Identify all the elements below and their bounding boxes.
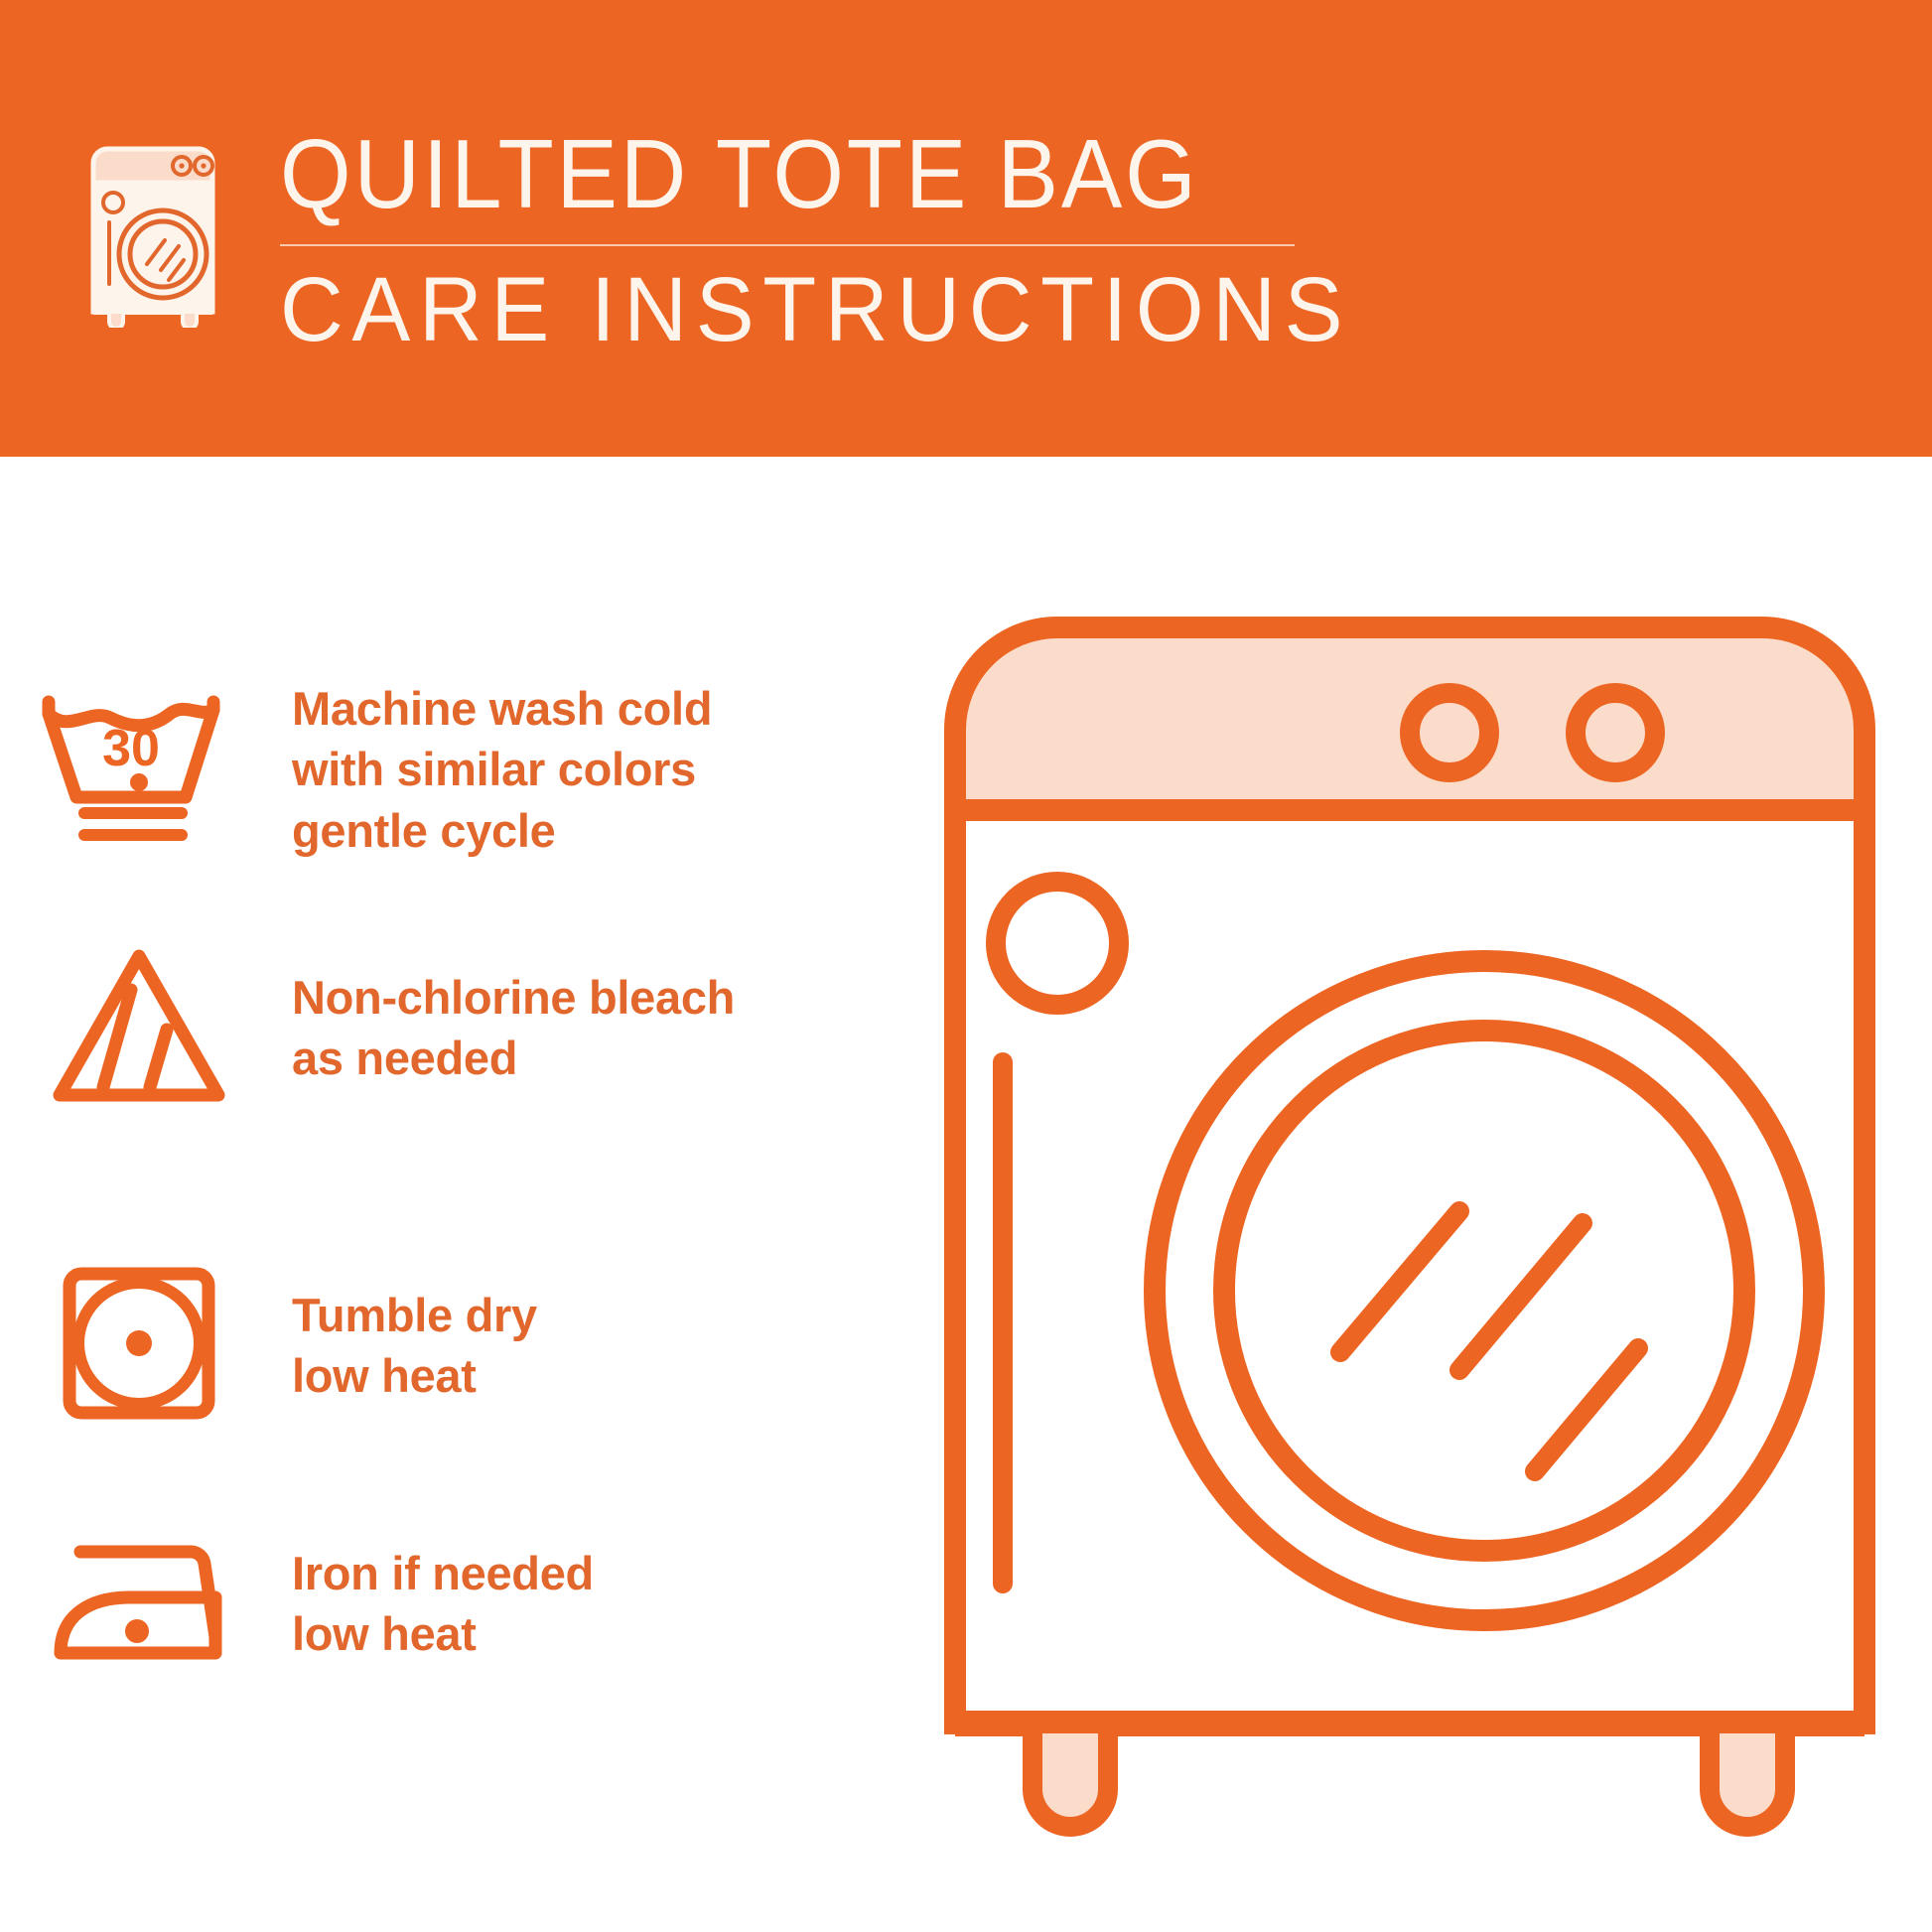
care-text-line: Non-chlorine bleach	[292, 967, 735, 1028]
care-text-line: Iron if needed	[292, 1543, 594, 1603]
wash-temperature-value: 30	[102, 720, 160, 777]
header-band: QUILTED TOTE BAG CARE INSTRUCTIONS	[0, 0, 1932, 457]
care-text-line: Tumble dry	[292, 1285, 537, 1345]
iron-low-heat-icon	[0, 1489, 278, 1718]
washing-machine-illustration	[943, 616, 1876, 1866]
care-instruction-list: 30 Machine wash cold with similar colors…	[0, 457, 953, 1932]
machine-leg	[1033, 1724, 1108, 1827]
page-title: QUILTED TOTE BAG	[280, 125, 1269, 222]
care-text-bleach: Non-chlorine bleach as needed	[278, 967, 735, 1088]
care-text-line: gentle cycle	[292, 800, 712, 861]
wash-tub-30-gentle-icon: 30	[0, 655, 278, 884]
care-text-iron: Iron if needed low heat	[278, 1543, 594, 1664]
care-text-line: as needed	[292, 1028, 735, 1088]
care-text-line: low heat	[292, 1345, 537, 1406]
header-text-block: QUILTED TOTE BAG CARE INSTRUCTIONS	[280, 125, 1332, 355]
care-instructions-page: QUILTED TOTE BAG CARE INSTRUCTIONS 30	[0, 0, 1932, 1932]
care-row: Tumble dry low heat	[0, 1231, 953, 1459]
care-text-line: with similar colors	[292, 739, 712, 799]
washing-machine-icon	[83, 137, 222, 328]
page-subtitle: CARE INSTRUCTIONS	[280, 264, 1291, 355]
machine-leg	[1710, 1724, 1785, 1827]
care-text-dry: Tumble dry low heat	[278, 1285, 537, 1406]
care-row: 30 Machine wash cold with similar colors…	[0, 655, 953, 884]
care-text-wash: Machine wash cold with similar colors ge…	[278, 678, 712, 860]
care-text-line: low heat	[292, 1603, 594, 1664]
care-row: Non-chlorine bleach as needed	[0, 913, 953, 1142]
bleach-triangle-non-chlorine-icon	[0, 913, 278, 1142]
care-row: Iron if needed low heat	[0, 1489, 953, 1718]
tumble-dry-low-heat-icon	[0, 1231, 278, 1459]
care-text-line: Machine wash cold	[292, 678, 712, 739]
title-divider	[280, 244, 1295, 246]
